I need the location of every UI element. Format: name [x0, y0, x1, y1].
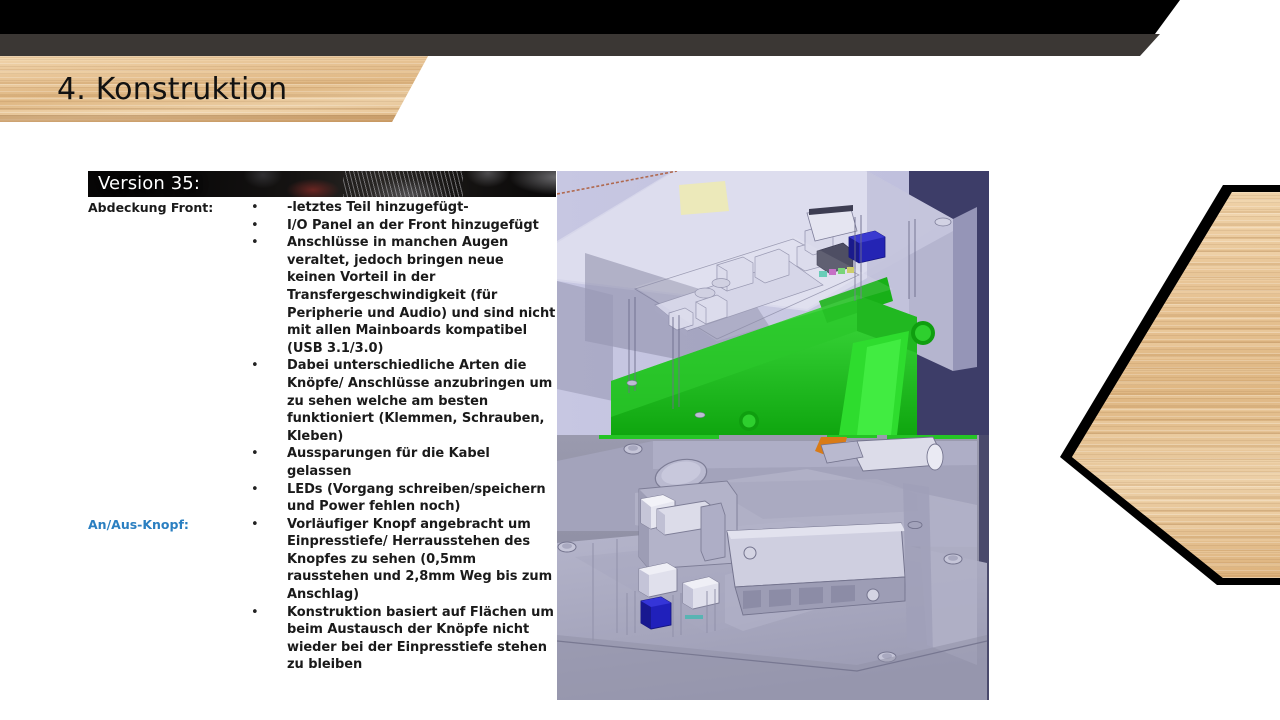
list-item-text: -letztes Teil hinzugefügt-	[287, 199, 556, 217]
wood-chevron-decoration	[1060, 185, 1280, 585]
group-lead-label: An/Aus-Knopf:	[88, 516, 248, 534]
list-item: •Konstruktion basiert auf Flächen um bei…	[248, 604, 556, 674]
cad-top-svg	[557, 171, 989, 435]
chevron-wood-face	[1060, 185, 1280, 585]
bullet-dot-icon: •	[248, 217, 287, 235]
list-item: •I/O Panel an der Front hinzugefügt	[248, 217, 556, 235]
header-black-bar	[0, 0, 1180, 34]
bullet-list: •Vorläufiger Knopf angebracht um Einpres…	[248, 516, 556, 674]
bullet-dot-icon: •	[248, 199, 287, 217]
list-item-text: Vorläufiger Knopf angebracht um Einpress…	[287, 516, 556, 604]
list-item-text: Dabei unterschiedliche Arten die Knöpfe/…	[287, 357, 556, 445]
bullet-dot-icon: •	[248, 481, 287, 499]
cad-render-front-cover-assembly	[557, 171, 989, 435]
list-item: •Anschlüsse in manchen Augen veraltet, j…	[248, 234, 556, 357]
header-gray-bar	[0, 34, 1160, 56]
group-lead-label: Abdeckung Front:	[88, 199, 248, 217]
list-item-text: Aussparungen für die Kabel gelassen	[287, 445, 556, 480]
bullet-dot-icon: •	[248, 604, 287, 622]
bullet-dot-icon: •	[248, 445, 287, 463]
bullet-dot-icon: •	[248, 234, 287, 252]
slide-root: 4. Konstruktion Version 35: Abdeckung Fr…	[0, 0, 1280, 720]
page-title: 4. Konstruktion	[57, 72, 287, 107]
list-item: •Dabei unterschiedliche Arten die Knöpfe…	[248, 357, 556, 445]
bullet-dot-icon: •	[248, 357, 287, 375]
list-item-text: I/O Panel an der Front hinzugefügt	[287, 217, 556, 235]
list-item: •LEDs (Vorgang schreiben/speichern und P…	[248, 481, 556, 516]
list-item: •Aussparungen für die Kabel gelassen	[248, 445, 556, 480]
list-item-text: Konstruktion basiert auf Flächen um beim…	[287, 604, 556, 674]
cad-bottom-svg	[557, 435, 989, 700]
content-group: Abdeckung Front:•-letztes Teil hinzugefü…	[88, 199, 556, 516]
content-body: Abdeckung Front:•-letztes Teil hinzugefü…	[88, 199, 556, 674]
cad-render-power-button-interior	[557, 435, 989, 700]
list-item-text: Anschlüsse in manchen Augen veraltet, je…	[287, 234, 556, 357]
list-item: •-letztes Teil hinzugefügt-	[248, 199, 556, 217]
bullet-list: •-letztes Teil hinzugefügt-•I/O Panel an…	[248, 199, 556, 516]
content-group: An/Aus-Knopf:•Vorläufiger Knopf angebrac…	[88, 516, 556, 674]
list-item-text: LEDs (Vorgang schreiben/speichern und Po…	[287, 481, 556, 516]
bullet-dot-icon: •	[248, 516, 287, 534]
version-banner-label: Version 35:	[98, 173, 200, 194]
version-banner: Version 35:	[88, 171, 556, 197]
list-item: •Vorläufiger Knopf angebracht um Einpres…	[248, 516, 556, 604]
